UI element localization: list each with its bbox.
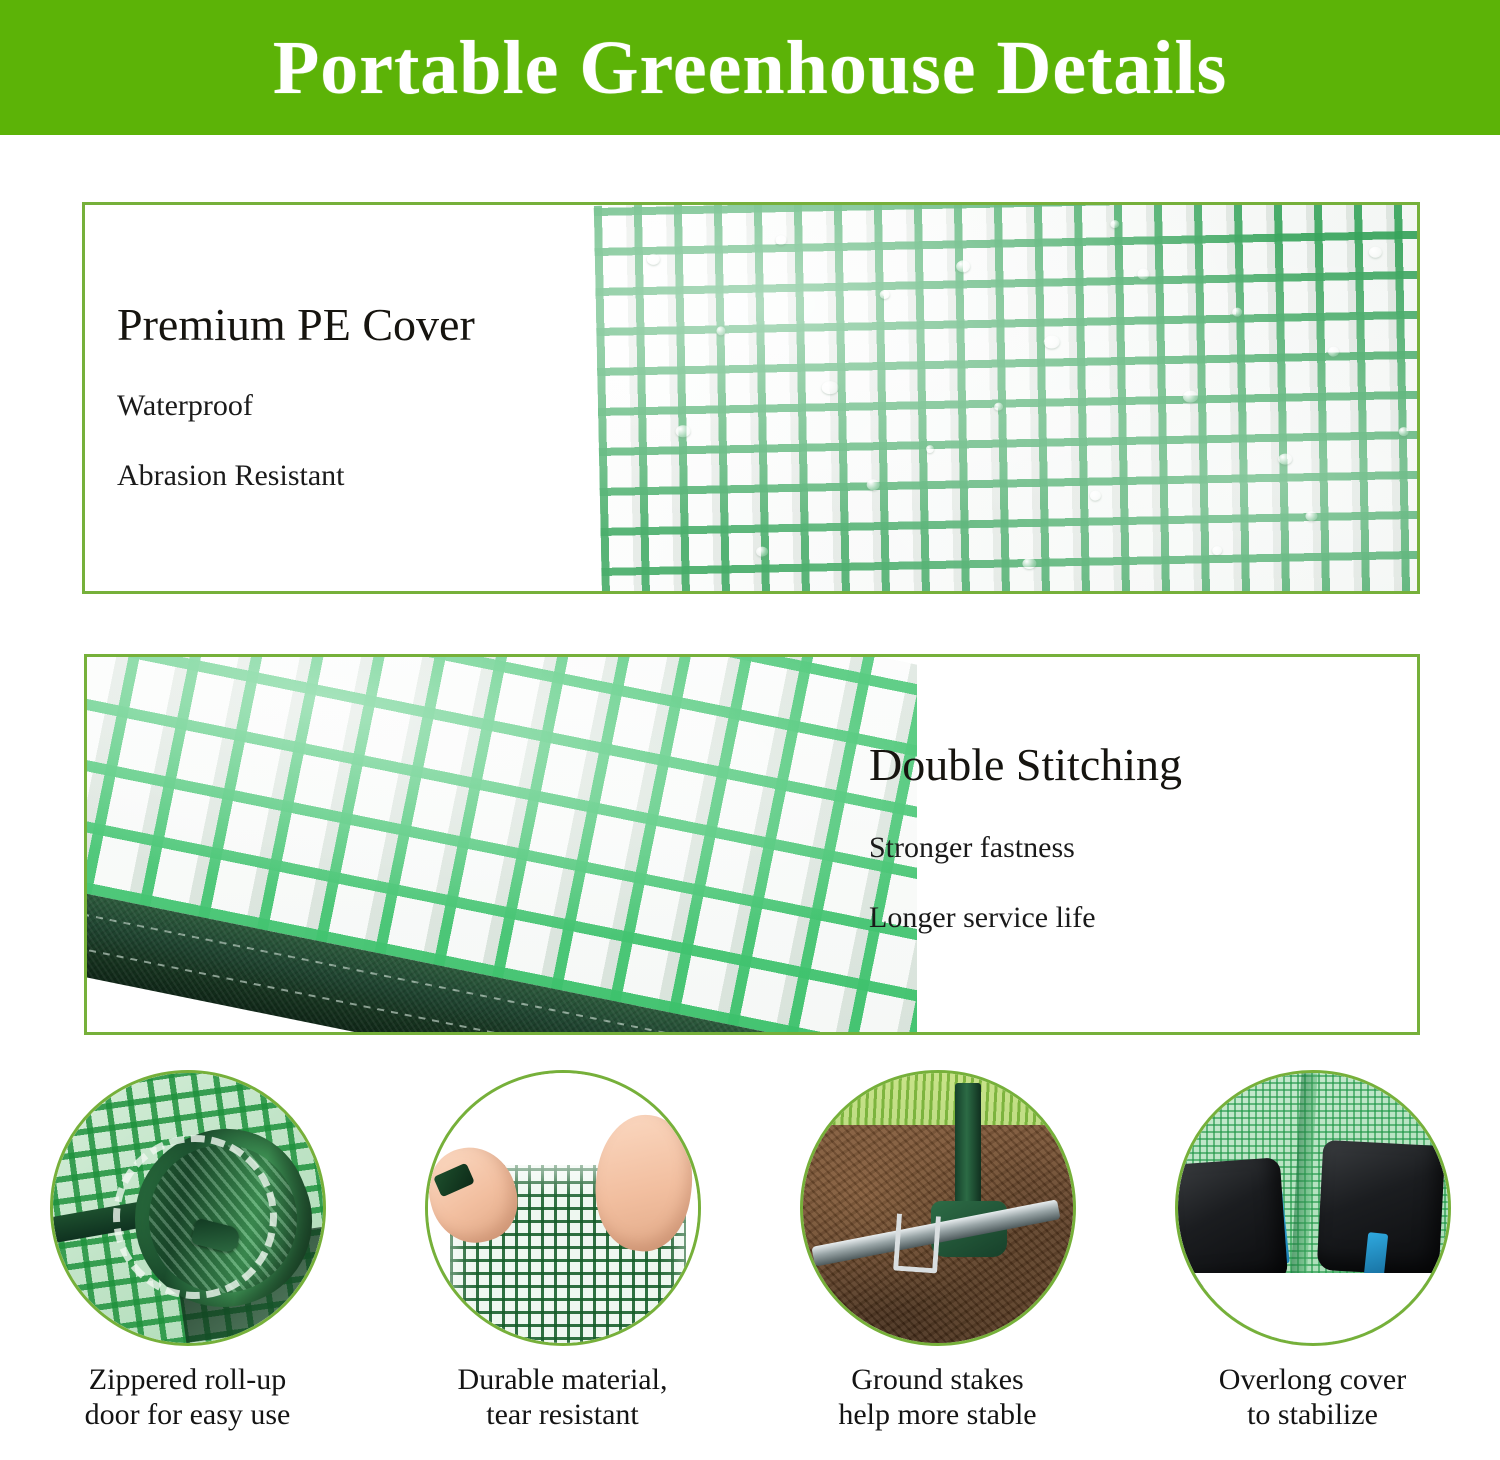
double-stitching-text-block: Double Stitching Stronger fastness Longe… (869, 741, 1389, 973)
feature-ground-stakes: Ground stakes help more stable (750, 1070, 1125, 1460)
pe-mesh-texture-image (594, 202, 1420, 594)
panel-double-stitching: Double Stitching Stronger fastness Longe… (84, 654, 1420, 1035)
feature-caption-overlong-cover: Overlong cover to stabilize (1219, 1362, 1406, 1433)
feature-caption-zippered-door: Zippered roll-up door for easy use (85, 1362, 291, 1433)
feature-zippered-door: Zippered roll-up door for easy use (0, 1070, 375, 1460)
feature-overlong-cover: Overlong cover to stabilize (1125, 1070, 1500, 1460)
sandbag-weight-left-icon (1178, 1157, 1288, 1289)
pe-cover-bullet-1: Waterproof (117, 391, 607, 421)
pe-cover-bullet-2: Abrasion Resistant (117, 461, 607, 491)
pe-cover-heading: Premium PE Cover (117, 301, 607, 349)
page-title: Portable Greenhouse Details (273, 30, 1227, 106)
ground-stake-icon (893, 1214, 941, 1274)
feature-image-zippered-door (50, 1070, 326, 1346)
cover-sheet-corner (87, 657, 917, 1032)
double-stitching-bullet-2: Longer service life (869, 903, 1389, 933)
page-header-band: Portable Greenhouse Details (0, 0, 1500, 135)
pe-cover-text-block: Premium PE Cover Waterproof Abrasion Res… (117, 301, 607, 531)
double-stitching-heading: Double Stitching (869, 741, 1389, 789)
double-stitching-bullet-1: Stronger fastness (869, 833, 1389, 863)
water-droplets-overlay (594, 202, 1420, 594)
panel-premium-pe-cover: Premium PE Cover Waterproof Abrasion Res… (82, 202, 1420, 594)
feature-caption-durable-material: Durable material, tear resistant (458, 1362, 668, 1433)
white-foreground (1178, 1273, 1448, 1343)
feature-image-overlong-cover (1175, 1070, 1451, 1346)
double-stitching-image (87, 657, 917, 1032)
feature-row: Zippered roll-up door for easy use Durab… (0, 1070, 1500, 1460)
vertical-pole-icon (955, 1083, 981, 1211)
feature-image-durable-material (425, 1070, 701, 1346)
blue-strap-secondary-icon (1363, 1232, 1387, 1278)
feature-image-ground-stakes (800, 1070, 1076, 1346)
mesh-highlight-overlay (594, 202, 1420, 594)
feature-caption-ground-stakes: Ground stakes help more stable (838, 1362, 1036, 1433)
feature-durable-material: Durable material, tear resistant (375, 1070, 750, 1460)
